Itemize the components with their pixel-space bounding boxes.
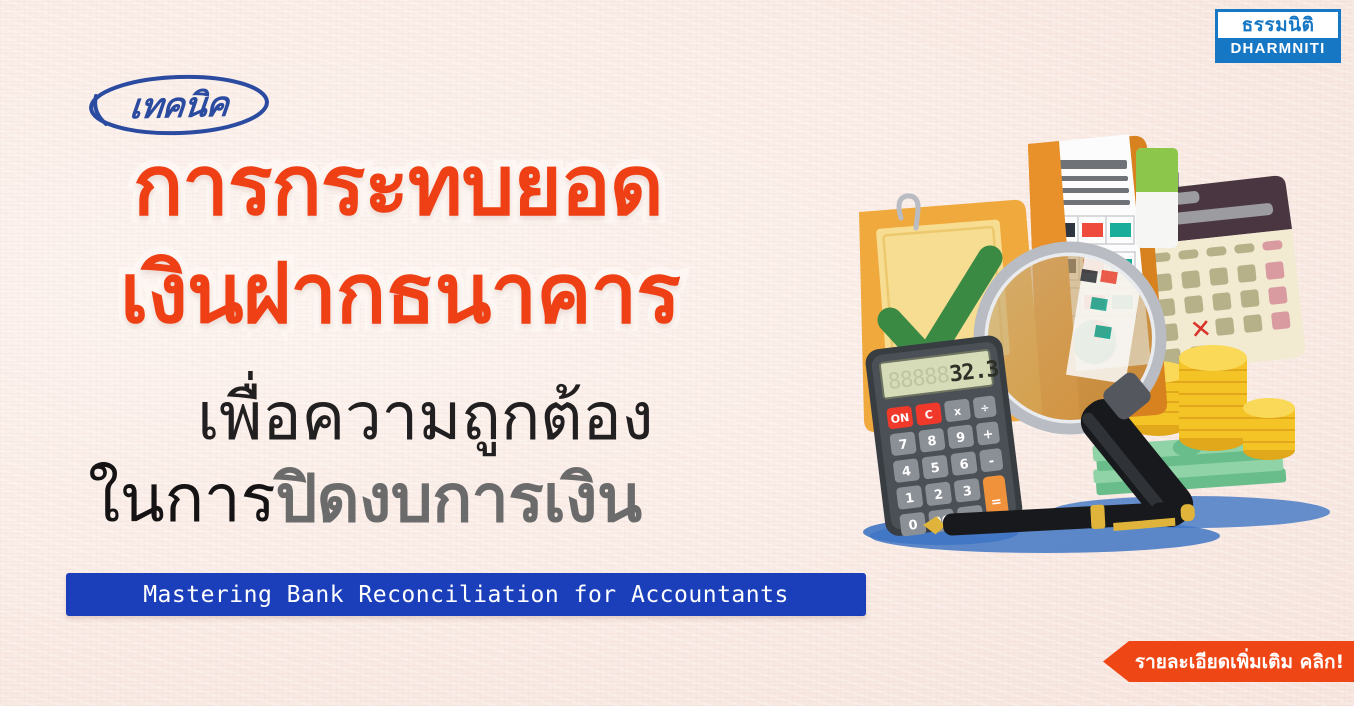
svg-text:2: 2 [933,487,944,503]
english-subtitle-bar: Mastering Bank Reconciliation for Accoun… [66,573,866,616]
headline-line-1: การกระทบยอด [133,144,663,227]
svg-text:ON: ON [890,411,910,426]
svg-text:=: = [990,494,1003,510]
svg-text:7: 7 [898,437,909,453]
svg-text:5: 5 [930,461,941,477]
svg-text:÷: ÷ [980,401,991,415]
logo-thai-text: ธรรมนิติ [1218,12,1338,38]
headline-line-4: ในการปิดงบการเงิน [88,466,642,532]
cta-label: รายละเอียดเพิ่มเติม คลิก! [1113,647,1344,677]
svg-text:6: 6 [959,457,970,473]
headline-line-2: เงินฝากธนาคาร [120,252,680,335]
english-subtitle-text: Mastering Bank Reconciliation for Accoun… [143,582,789,608]
headline-line-4-thin: ในการ [88,460,275,537]
svg-text:✕: ✕ [1189,314,1214,346]
more-details-cta-button[interactable]: รายละเอียดเพิ่มเติม คลิก! [1103,641,1354,682]
bookmark-tab [1136,148,1178,248]
svg-text:3: 3 [962,484,973,500]
logo-english-text: DHARMNITI [1218,38,1338,60]
headline-line-3: เพื่อความถูกต้อง [197,384,653,450]
technique-badge: เทคนิค [84,72,274,138]
bank-reconciliation-illustration: ✕ [845,120,1354,580]
svg-text:9: 9 [955,430,966,446]
svg-text:4: 4 [901,464,912,480]
calculator-icon: 88888 32.3 ON C x ÷ 7 8 9 + 4 5 6 [864,334,1024,538]
svg-text:8: 8 [927,434,938,450]
svg-text:C: C [924,408,934,422]
svg-text:+: + [982,427,995,443]
svg-text:0: 0 [908,518,919,534]
promotional-banner: ✕ [0,0,1354,706]
headline-line-4-bold: ปิดงบการเงิน [275,460,641,537]
dharmniti-logo[interactable]: ธรรมนิติ DHARMNITI [1215,9,1341,63]
svg-text:1: 1 [904,491,915,507]
technique-label: เทคนิค [81,70,278,141]
